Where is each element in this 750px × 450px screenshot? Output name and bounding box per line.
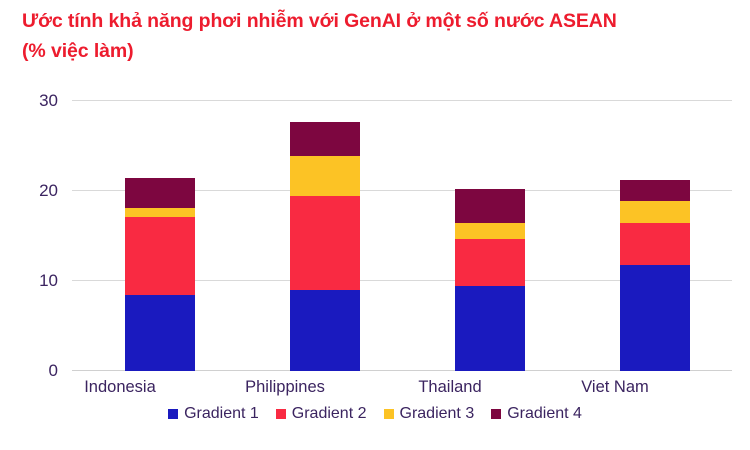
legend-item-2[interactable]: Gradient 2 — [276, 405, 367, 423]
legend-label-2: Gradient 2 — [292, 405, 367, 423]
legend-swatch-icon-3 — [384, 409, 394, 419]
x-axis-label-viet-nam: Viet Nam — [535, 378, 695, 398]
legend-item-1[interactable]: Gradient 1 — [168, 405, 259, 423]
bar-group-indonesia[interactable] — [125, 178, 195, 372]
bar-segment-thailand-series-4[interactable] — [455, 189, 525, 223]
bar-group-philippines[interactable] — [290, 122, 360, 371]
legend-swatch-icon-4 — [491, 409, 501, 419]
bar-segment-philippines-series-2[interactable] — [290, 196, 360, 290]
bar-segment-thailand-series-3[interactable] — [455, 223, 525, 238]
bar-segment-viet-nam-series-3[interactable] — [620, 201, 690, 224]
bar-segment-thailand-series-2[interactable] — [455, 239, 525, 287]
chart-legend: Gradient 1Gradient 2Gradient 3Gradient 4 — [0, 405, 750, 423]
y-axis-tick-30: 30 — [14, 92, 58, 109]
legend-label-3: Gradient 3 — [400, 405, 475, 423]
bar-series-layer — [72, 100, 732, 371]
bar-segment-indonesia-series-3[interactable] — [125, 208, 195, 217]
bar-segment-philippines-series-1[interactable] — [290, 290, 360, 371]
y-axis-tick-20: 20 — [14, 182, 58, 199]
bar-segment-thailand-series-1[interactable] — [455, 286, 525, 371]
chart-title-line-2: (% việc làm) — [22, 36, 732, 66]
bar-segment-viet-nam-series-1[interactable] — [620, 265, 690, 371]
bar-segment-viet-nam-series-2[interactable] — [620, 223, 690, 264]
chart-container: Ước tính khả năng phơi nhiễm với GenAI ở… — [0, 0, 750, 450]
legend-swatch-icon-2 — [276, 409, 286, 419]
chart-title: Ước tính khả năng phơi nhiễm với GenAI ở… — [22, 6, 732, 66]
legend-item-4[interactable]: Gradient 4 — [491, 405, 582, 423]
y-axis-tick-0: 0 — [14, 362, 58, 379]
legend-label-4: Gradient 4 — [507, 405, 582, 423]
legend-swatch-icon-1 — [168, 409, 178, 419]
x-axis-label-thailand: Thailand — [370, 378, 530, 398]
bar-segment-philippines-series-4[interactable] — [290, 122, 360, 156]
bar-group-thailand[interactable] — [455, 189, 525, 371]
bar-segment-viet-nam-series-4[interactable] — [620, 180, 690, 201]
chart-title-line-1: Ước tính khả năng phơi nhiễm với GenAI ở… — [22, 6, 732, 36]
bar-segment-indonesia-series-2[interactable] — [125, 217, 195, 294]
bar-segment-philippines-series-3[interactable] — [290, 156, 360, 197]
bar-group-viet-nam[interactable] — [620, 180, 690, 371]
legend-item-3[interactable]: Gradient 3 — [384, 405, 475, 423]
x-axis-label-philippines: Philippines — [205, 378, 365, 398]
y-axis-tick-10: 10 — [14, 272, 58, 289]
legend-label-1: Gradient 1 — [184, 405, 259, 423]
x-axis-label-indonesia: Indonesia — [40, 378, 200, 398]
bar-segment-indonesia-series-1[interactable] — [125, 295, 195, 372]
bar-segment-indonesia-series-4[interactable] — [125, 178, 195, 209]
plot-area — [72, 100, 732, 371]
